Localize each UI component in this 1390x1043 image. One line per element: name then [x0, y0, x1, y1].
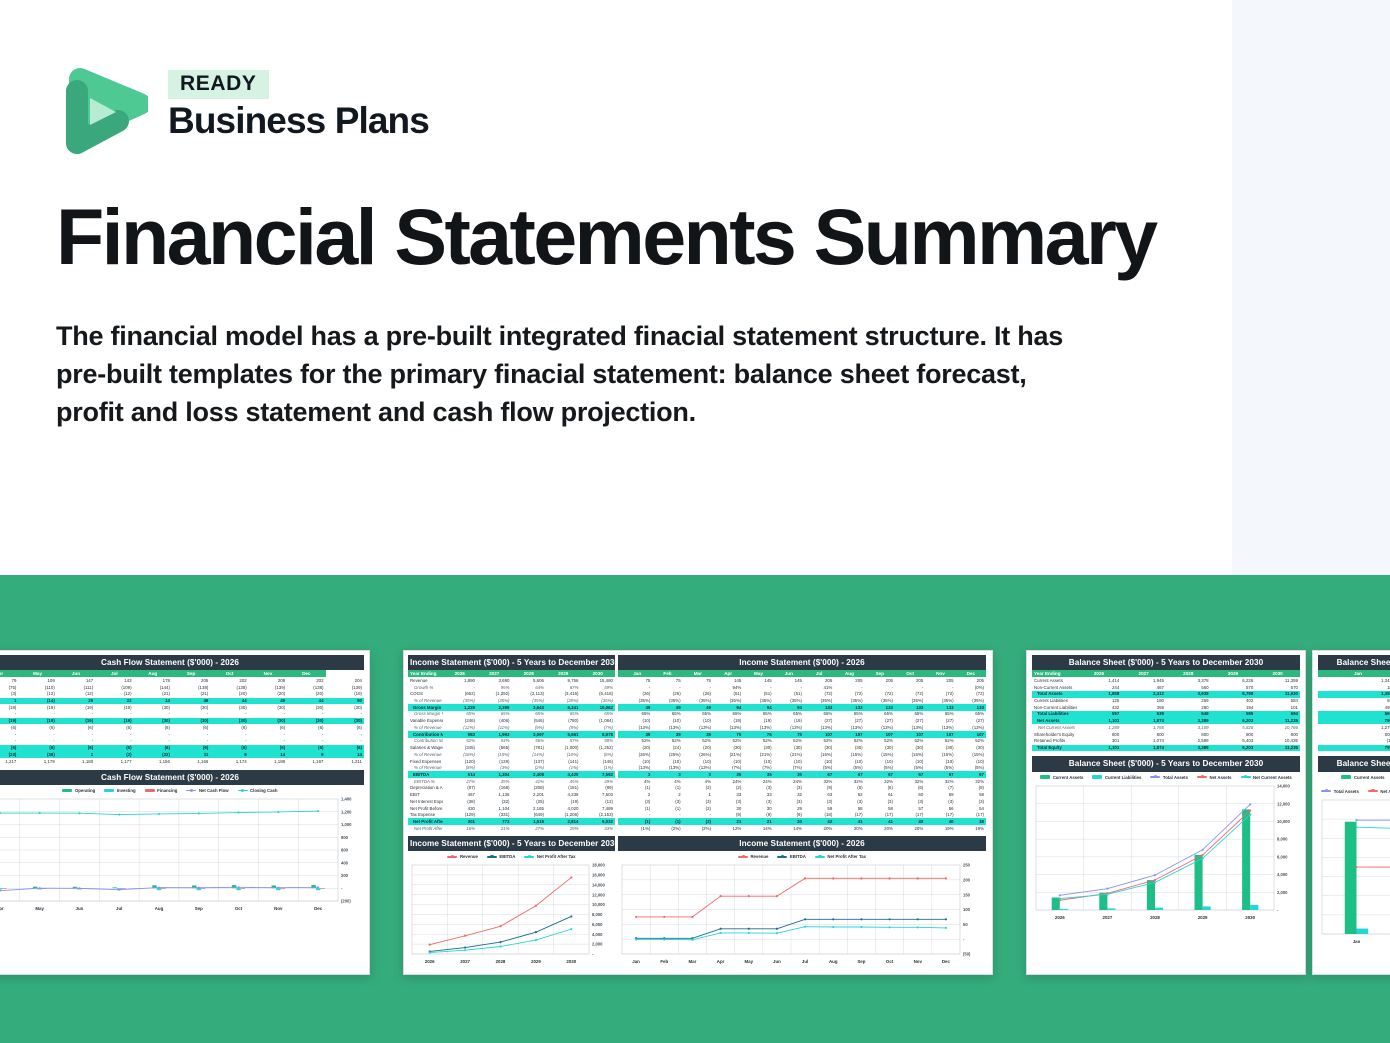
row-label: Net Assets	[1032, 718, 1077, 725]
table-row: ----------	[0, 738, 364, 745]
table-cell: (13%)	[925, 724, 955, 731]
table-cell: (1%)	[622, 825, 652, 832]
svg-text:1,000: 1,000	[341, 822, 352, 827]
table-cell: (6)	[18, 745, 56, 752]
table-cell: 61	[865, 792, 895, 799]
table-cell: (5%)	[804, 765, 834, 772]
row-label: Depreciation & Amortisation	[408, 785, 443, 792]
table-cell: 49%	[581, 778, 616, 785]
table-cell: (7%)	[581, 724, 616, 731]
table-cell: (19)	[774, 718, 804, 725]
table-cell: 7,592	[581, 771, 616, 778]
table-cell: (20)	[210, 691, 248, 698]
table-cell: 3,097	[512, 731, 547, 738]
table-cell: (208)	[512, 785, 547, 792]
table-cell: (6)	[210, 724, 248, 731]
table-cell: (137)	[512, 758, 547, 765]
table-cell: (3)	[804, 798, 834, 805]
table-cell: (10)	[743, 758, 773, 765]
table-cell: 145	[743, 677, 773, 684]
table-cell: (181)	[546, 785, 581, 792]
table-cell: 133	[895, 704, 925, 711]
table-cell: (17)	[895, 812, 925, 819]
table-cell: 20%	[895, 825, 925, 832]
table-cell: 3,938	[1166, 691, 1211, 698]
row-label: Fixed Expenses	[408, 758, 443, 765]
table-cell: 52%	[683, 738, 713, 745]
table-cell: 3,690	[477, 677, 512, 684]
table-cell: (17)	[865, 812, 895, 819]
table-cell: 1,414	[1077, 677, 1122, 684]
table-row: Gross Margin %65%65%65%65%65%	[408, 711, 615, 718]
table-cell: (17)	[834, 812, 864, 819]
table-row: (26%)(25%)(26%)(21%)(21%)(21%)(15%)(15%)…	[618, 751, 986, 758]
table-row: 757575145145145205205205205205205	[618, 677, 986, 684]
table-cell: (2)	[713, 785, 743, 792]
table-cell: (246)	[443, 718, 478, 725]
balance-monthly-sheet: Balance Sheet ($'000) - 2026 JanFeb1,341…	[1313, 651, 1390, 950]
table-row: Non-Current Assets244467560570570	[1032, 684, 1300, 691]
table-cell: (72)	[804, 691, 834, 698]
table-row: Net Profit Before Tax4301,1042,1654,0207…	[408, 805, 615, 812]
row-label: % of Revenue	[408, 724, 443, 731]
row-label: Variable Expenses	[408, 718, 443, 725]
balance-sheet-screenshot-panel: Balance Sheet ($'000) - 5 Years to Decem…	[1026, 650, 1306, 975]
table-cell: 45%	[546, 778, 581, 785]
row-label: Total Equity	[1032, 745, 1077, 752]
table-cell: 52%	[622, 738, 652, 745]
table-cell: -	[95, 731, 133, 738]
table-cell: 467	[1121, 684, 1166, 691]
table-cell: 30	[713, 805, 743, 812]
table-cell: (22)	[134, 751, 172, 758]
table-cell: 29	[774, 805, 804, 812]
table-cell: 32	[774, 792, 804, 799]
cashflow-table-title: Cash Flow Statement ($'000) - 2026	[0, 655, 364, 670]
table-cell: 101	[1255, 704, 1300, 711]
svg-text:2029: 2029	[531, 959, 541, 964]
table-cell: (13%)	[774, 724, 804, 731]
legend-swatch-icon	[1341, 775, 1351, 778]
table-cell: (12)	[57, 691, 95, 698]
table-cell: 1,217	[0, 758, 18, 765]
legend-item: Closing Cash	[238, 788, 278, 793]
legend-swatch-icon	[104, 789, 114, 792]
legend-item: Net Cash Flow	[186, 788, 228, 793]
table-cell: 1,136	[477, 792, 512, 799]
legend-label: Financing	[157, 788, 177, 793]
table-cell: (51)	[713, 691, 743, 698]
table-cell: 94%	[713, 684, 743, 691]
table-cell: 800	[1166, 731, 1211, 738]
svg-text:-: -	[592, 952, 594, 957]
table-cell: 65%	[804, 711, 834, 718]
table-cell: (19)	[57, 704, 95, 711]
table-cell: -	[172, 711, 210, 718]
table-cell: 11,930	[1255, 691, 1300, 698]
table-cell: (6)	[287, 745, 325, 752]
table-cell: (345)	[443, 745, 478, 752]
table-cell: 40	[925, 818, 955, 825]
table-cell: (649)	[512, 812, 547, 819]
table-cell: 50	[326, 698, 364, 705]
legend-swatch-icon	[815, 856, 825, 858]
table-cell: 52%	[895, 738, 925, 745]
table-cell: (13%)	[683, 724, 713, 731]
table-header-row: AprMayJunJulAugSepOctNovDec	[0, 670, 364, 677]
table-row: (23)(38)1(2)(22)11814914	[0, 751, 364, 758]
svg-text:1,200: 1,200	[341, 809, 352, 814]
table-cell: -	[18, 738, 56, 745]
table-cell: 584	[1255, 698, 1300, 705]
table-cell: (10)	[774, 758, 804, 765]
table-cell: 4,420	[546, 771, 581, 778]
income-5y-table-body: Year Ending20262027202820292030Revenue1,…	[408, 670, 615, 832]
table-cell: 52%	[713, 738, 743, 745]
table-row: 494949949494133133133133133133	[618, 704, 986, 711]
svg-text:2030: 2030	[1245, 915, 1255, 920]
table-cell: 54%	[477, 738, 512, 745]
table-cell: 39	[622, 731, 652, 738]
table-cell: 133	[925, 704, 955, 711]
table-cell: (9)	[743, 812, 773, 819]
row-label: Tax Expense	[408, 812, 443, 819]
legend-item: Operating	[62, 788, 95, 793]
table-cell: 75	[622, 677, 652, 684]
row-label: Revenue	[408, 677, 443, 684]
table-cell: (13%)	[956, 724, 986, 731]
table-cell: (1)	[1322, 738, 1390, 745]
table-row: 4%4%4%24%24%24%32%32%32%32%32%32%	[618, 778, 986, 785]
table-cell: 3	[622, 771, 652, 778]
table-row: (75)(110)(111)(109)(144)(138)(138)(139)(…	[0, 684, 364, 691]
table-row: Retained Profits3011,0742,5895,40310,435	[1032, 738, 1300, 745]
legend-label: Net Assets	[1209, 775, 1231, 780]
table-cell: 359	[1121, 704, 1166, 711]
table-cell: (21)	[134, 691, 172, 698]
table-cell: 59	[804, 805, 834, 812]
table-cell: 133	[865, 704, 895, 711]
table-cell: (8%)	[581, 751, 616, 758]
table-cell: 5,826	[1211, 724, 1256, 731]
table-cell: 67	[865, 771, 895, 778]
table-cell: (2%)	[512, 765, 547, 772]
table-cell: 65	[1322, 698, 1390, 705]
table-cell: (30)	[743, 745, 773, 752]
table-cell: (3)	[683, 798, 713, 805]
table-cell: (129)	[443, 812, 478, 819]
table-row: 799798	[1318, 745, 1390, 752]
table-row: % of Revenue(8%)(3%)(2%)(1%)(1%)	[408, 765, 615, 772]
svg-text:2026: 2026	[425, 959, 435, 964]
table-cell: (72)	[865, 691, 895, 698]
row-label: % of Revenue	[408, 765, 443, 772]
table-cell: (19)	[546, 798, 581, 805]
table-cell: 4,239	[546, 792, 581, 799]
table-cell: 19%	[925, 825, 955, 832]
table-cell: (6)	[287, 724, 325, 731]
table-cell: 46	[172, 698, 210, 705]
table-cell: 1,166	[172, 758, 210, 765]
table-header-row: Year Ending20262027202820292030	[1032, 670, 1300, 677]
column-header: 2029	[546, 670, 581, 677]
row-label: Gross Margin %	[408, 711, 443, 718]
table-cell: 6,341	[546, 704, 581, 711]
legend-label: EBITDA	[790, 854, 806, 859]
table-cell: 3	[683, 771, 713, 778]
legend-swatch-icon	[447, 856, 457, 858]
legend-item: Net Profit After Tax	[815, 854, 866, 859]
cashflow-sheet: Cash Flow Statement ($'000) - 2026 AprMa…	[0, 651, 369, 917]
table-cell: 65%	[834, 711, 864, 718]
table-cell: (12)	[95, 691, 133, 698]
table-cell: 21	[713, 818, 743, 825]
table-cell: (89)	[581, 785, 616, 792]
table-cell: 44	[287, 698, 325, 705]
table-cell: (6)	[134, 745, 172, 752]
table-row: (20)(24)(20)(30)(30)(30)(30)(30)(30)(30)…	[618, 745, 986, 752]
table-row: (1)(1)(2)(2)(3)(3)(9)(5)(6)(6)(7)(8)	[618, 785, 986, 792]
table-cell: (20)	[249, 691, 287, 698]
table-cell: (18%)	[443, 751, 478, 758]
row-label: Net Profit After Tax	[408, 818, 443, 825]
table-cell: (6)	[326, 745, 364, 752]
table-cell: (35%)	[512, 698, 547, 705]
page-description: The financial model has a pre-built inte…	[56, 318, 1091, 431]
table-cell: (2%)	[652, 825, 682, 832]
row-label: Contribution Margin %	[408, 738, 443, 745]
income-monthly-sheet: Income Statement ($'000) - 2026 JanFebMa…	[618, 655, 986, 832]
column-header: 2030	[1255, 670, 1300, 677]
legend-item: Net Assets	[1368, 789, 1390, 794]
legend-swatch-icon	[1241, 776, 1251, 778]
table-cell: (11%)	[477, 724, 512, 731]
table-cell: (14)	[18, 698, 56, 705]
table-cell: (15%)	[834, 751, 864, 758]
svg-text:2027: 2027	[460, 959, 470, 964]
row-label: Current Assets	[1032, 677, 1077, 684]
table-row: (3)(3)(3)(3)(3)(3)(3)(3)(3)(3)(3)(3)	[618, 798, 986, 805]
legend-item: EBITDA	[487, 854, 516, 859]
table-cell: (3%)	[477, 765, 512, 772]
table-cell: 1,275	[1322, 724, 1390, 731]
legend-swatch-icon	[777, 856, 787, 858]
table-cell: (5)	[834, 785, 864, 792]
table-cell: (141)	[546, 758, 581, 765]
balance-monthly-table: JanFeb1,3411,32318361,3591,3596572495489…	[1318, 670, 1390, 751]
table-cell: 67	[925, 771, 955, 778]
svg-text:Jul: Jul	[802, 959, 808, 964]
table-cell: -	[622, 684, 652, 691]
row-label: Retained Profits	[1032, 738, 1077, 745]
table-cell: (780)	[546, 718, 581, 725]
legend-swatch-icon	[238, 790, 248, 792]
table-cell: (2%)	[683, 825, 713, 832]
table-cell: 147	[57, 677, 95, 684]
table-cell: (35%)	[713, 698, 743, 705]
svg-text:10,000: 10,000	[592, 902, 605, 907]
table-cell: -	[249, 738, 287, 745]
table-cell: (23)	[0, 751, 18, 758]
table-cell: (1,206)	[546, 812, 581, 819]
column-header: Apr	[713, 670, 743, 677]
table-cell: 560	[1322, 711, 1390, 718]
table-cell: 2,412	[1121, 691, 1166, 698]
table-cell: (9)	[713, 812, 743, 819]
table-cell: 205	[925, 677, 955, 684]
table-row: Current Assets1,4141,9453,3786,22611,359	[1032, 677, 1300, 684]
table-cell: (27)	[865, 718, 895, 725]
table-cell: 56%	[512, 738, 547, 745]
table-cell: (35%)	[865, 698, 895, 705]
legend-label: Investing	[117, 788, 136, 793]
income-monthly-chart-title: Income Statement ($'000) - 2026	[618, 836, 986, 851]
table-cell: 9	[287, 751, 325, 758]
income-5y-sheet: Income Statement ($'000) - 5 Years to De…	[408, 655, 615, 832]
table-cell: 1,874	[1121, 718, 1166, 725]
table-cell: 773	[477, 818, 512, 825]
balance-5y-chart-block: Balance Sheet ($'000) - 5 Years to Decem…	[1032, 756, 1300, 921]
svg-text:-: -	[963, 937, 965, 942]
svg-text:4,000: 4,000	[592, 932, 603, 937]
table-cell: (781)	[512, 745, 547, 752]
svg-text:14,000: 14,000	[1277, 783, 1290, 788]
income-monthly-table: JanFebMarAprMayJunJulAugSepOctNovDec7575…	[618, 670, 986, 832]
table-cell: 205	[895, 677, 925, 684]
table-cell: (8)	[956, 785, 986, 792]
table-cell: (19)	[0, 704, 18, 711]
cashflow-chart-block: Cash Flow Statement ($'000) - 2026 Opera…	[0, 770, 364, 913]
table-cell: (26)	[683, 691, 713, 698]
table-row: (35%)(35%)(35%)(35%)(35%)(35%)(35%)(35%)…	[618, 698, 986, 705]
table-cell: (3)	[622, 798, 652, 805]
table-cell: 1,945	[1121, 677, 1166, 684]
table-cell: 35%	[477, 778, 512, 785]
table-cell: (38)	[443, 798, 478, 805]
table-cell: 1	[57, 751, 95, 758]
table-row: 6572	[1318, 698, 1390, 705]
table-row: (13%)(13%)(13%)(7%)(7%)(7%)(5%)(5%)(5%)(…	[618, 765, 986, 772]
table-row: Shareholder's Equity800800800800800	[1032, 731, 1300, 738]
table-cell: (5%)	[925, 765, 955, 772]
column-header: Nov	[249, 670, 287, 677]
row-label: Growth %	[408, 684, 443, 691]
table-cell: 205	[956, 677, 986, 684]
svg-text:(200): (200)	[341, 899, 351, 904]
table-cell: (7%)	[713, 765, 743, 772]
table-cell: 41%	[512, 778, 547, 785]
table-cell: (1)	[652, 785, 682, 792]
table-cell: 32%	[865, 778, 895, 785]
table-cell: (13%)	[652, 765, 682, 772]
column-header: Mar	[683, 670, 713, 677]
table-cell: (20)	[622, 745, 652, 752]
table-cell: 799	[1322, 745, 1390, 752]
table-cell: 20%	[804, 825, 834, 832]
table-cell: 5,606	[512, 677, 547, 684]
table-cell: 65%	[683, 711, 713, 718]
table-cell: 4,020	[546, 805, 581, 812]
table-row: (1)(1)(2)212120424141404038	[618, 818, 986, 825]
svg-text:Nov: Nov	[274, 906, 283, 911]
table-cell: 52%	[865, 738, 895, 745]
table-cell: (6)	[18, 724, 56, 731]
table-cell: 549	[1166, 711, 1211, 718]
column-header: 2027	[1121, 670, 1166, 677]
legend-item: Current Liabilities	[1092, 775, 1141, 780]
table-cell: (3)	[956, 798, 986, 805]
table-cell: 1,289	[1077, 724, 1122, 731]
table-cell: (87)	[443, 785, 478, 792]
table-cell: -	[57, 731, 95, 738]
table-cell: 2,814	[546, 818, 581, 825]
table-cell: (10)	[652, 718, 682, 725]
table-row: % of Revenue(35%)(35%)(35%)(35%)(35%)	[408, 698, 615, 705]
table-cell: 32%	[804, 778, 834, 785]
table-cell: (3)	[834, 798, 864, 805]
table-row: 79109147143178205202208202204	[0, 677, 364, 684]
table-cell: 10,435	[1255, 738, 1300, 745]
table-cell: 21%	[477, 825, 512, 832]
svg-text:2026: 2026	[1055, 915, 1065, 920]
table-cell: (26%)	[683, 751, 713, 758]
svg-text:8,000: 8,000	[592, 912, 603, 917]
table-cell: 18	[1322, 684, 1390, 691]
table-row: Salaries & Wages(345)(565)(781)(1,000)(1…	[408, 745, 615, 752]
row-label: Total Assets	[1032, 691, 1077, 698]
cashflow-chart-plot: 1,4001,2001,000800600400200-(200)AprMayJ…	[0, 795, 364, 913]
table-cell: 60	[895, 792, 925, 799]
row-label: Contribution Margin	[408, 731, 443, 738]
table-cell: (6)	[210, 745, 248, 752]
table-cell: 6,798	[1211, 691, 1256, 698]
table-cell: (6)	[326, 724, 364, 731]
legend-label: Closing Cash	[250, 788, 277, 793]
table-cell: (10)	[622, 758, 652, 765]
table-cell: 65%	[895, 711, 925, 718]
table-cell: (10)	[895, 758, 925, 765]
table-cell: (38)	[18, 751, 56, 758]
table-cell: 64%	[512, 684, 547, 691]
table-cell: 3,389	[1166, 745, 1211, 752]
table-cell: -	[57, 738, 95, 745]
table-cell: (6)	[172, 724, 210, 731]
table-cell: 14	[249, 751, 287, 758]
table-cell: (3)	[0, 691, 18, 698]
income-tables-row: Income Statement ($'000) - 5 Years to De…	[404, 651, 992, 832]
legend-label: Revenue	[750, 854, 768, 859]
table-cell: 94	[774, 704, 804, 711]
table-cell: 14%	[774, 825, 804, 832]
table-cell: 11,359	[1255, 677, 1300, 684]
column-header: 2030	[581, 670, 616, 677]
table-cell: 11	[172, 751, 210, 758]
table-cell: 8,978	[581, 731, 616, 738]
legend-swatch-icon	[1150, 776, 1160, 778]
table-cell: (35%)	[477, 698, 512, 705]
table-cell: 2,165	[512, 805, 547, 812]
table-cell: 178	[134, 677, 172, 684]
table-row: % of Revenue(18%)(15%)(14%)(10%)(8%)	[408, 751, 615, 758]
table-row: Contribution Margin9831,9933,0975,5618,9…	[408, 731, 615, 738]
column-header: Jun	[57, 670, 95, 677]
legend-label: Current Assets	[1053, 775, 1084, 780]
table-cell: 32%	[834, 778, 864, 785]
table-row: EBIT4671,1362,2014,2397,503	[408, 792, 615, 799]
table-row: Total Equity1,1011,8743,3896,20311,235	[1032, 745, 1300, 752]
table-cell: (25)	[512, 798, 547, 805]
table-cell: (13%)	[622, 765, 652, 772]
